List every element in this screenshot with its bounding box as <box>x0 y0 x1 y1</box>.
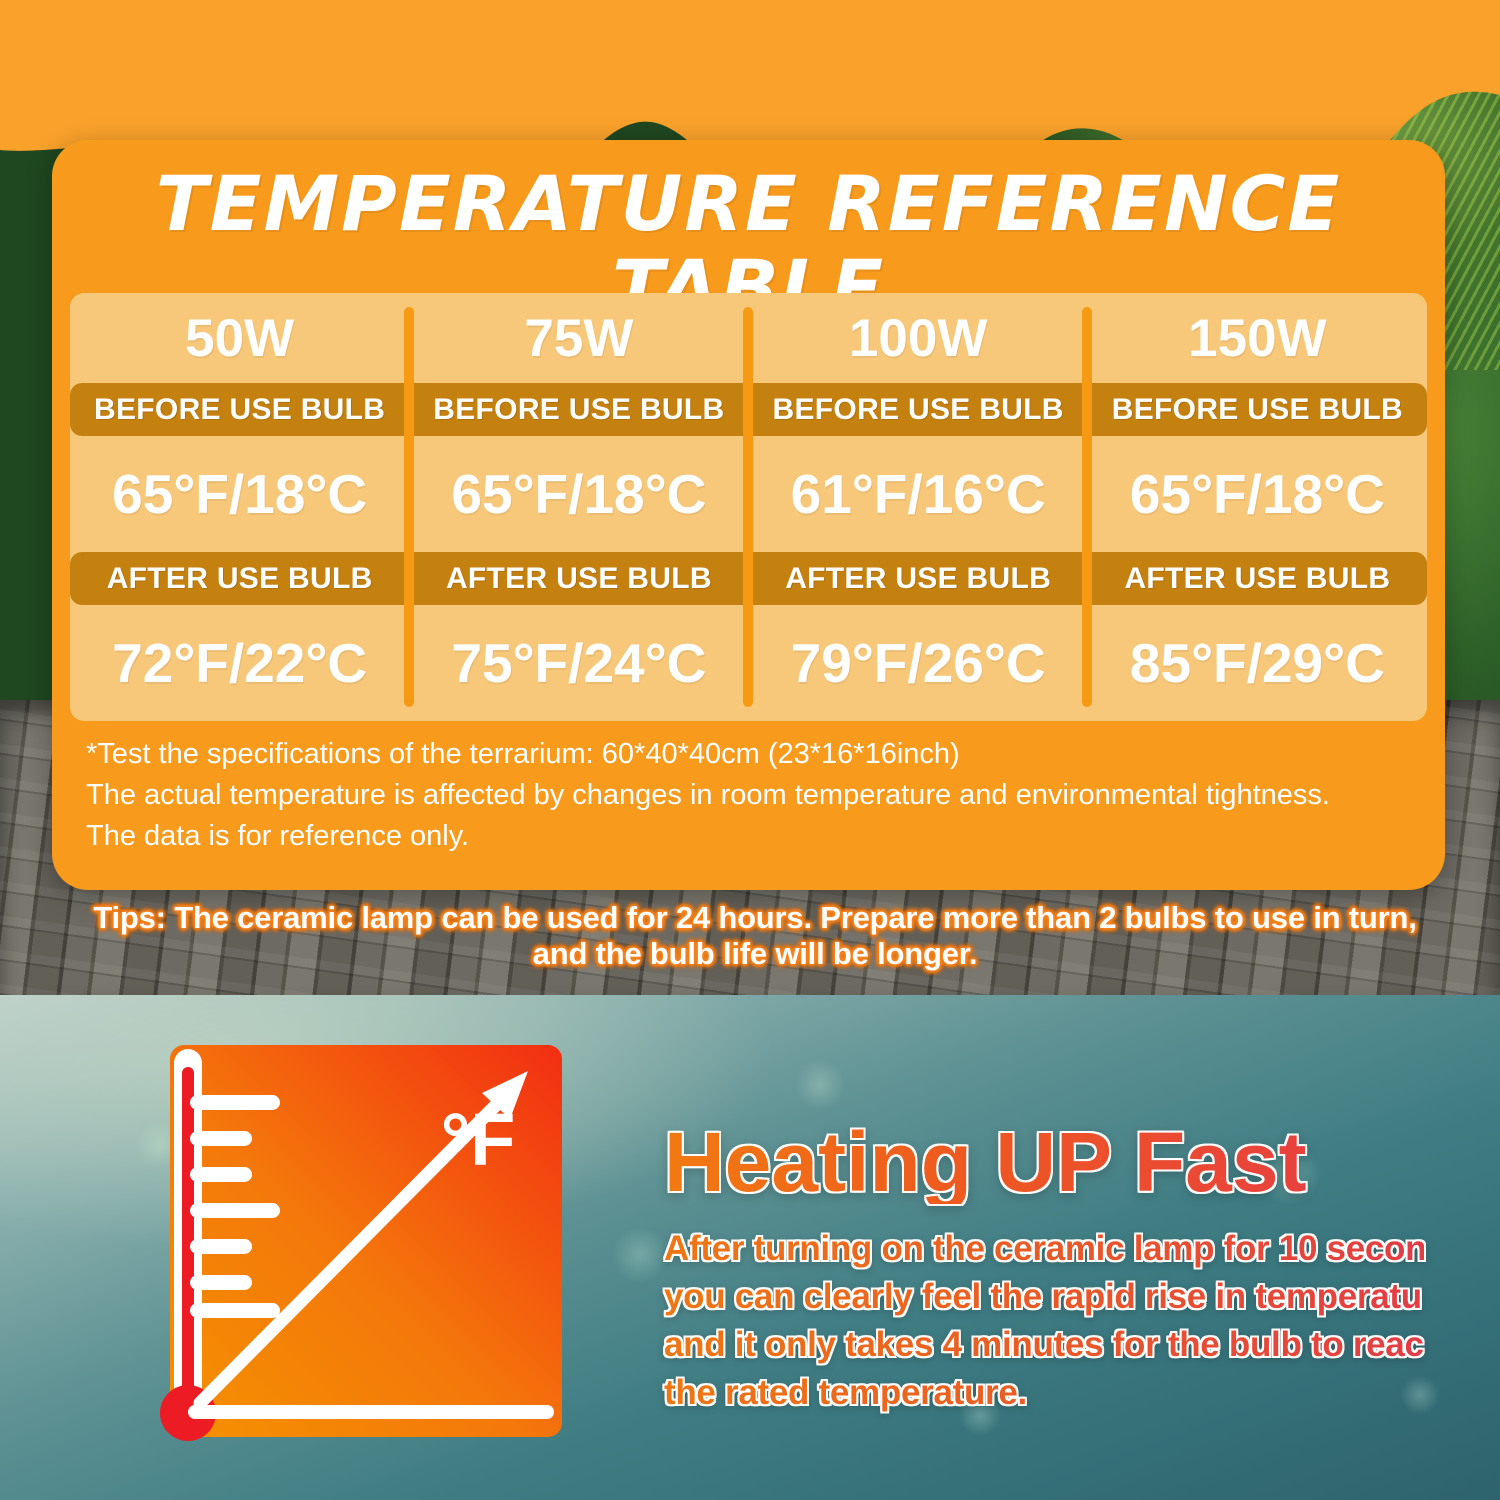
after-use-value: 85°F/29°C <box>1088 605 1427 721</box>
bottom-section: °F Heating UP Fast After turning on the … <box>0 995 1500 1500</box>
before-use-label: BEFORE USE BULB <box>409 383 748 436</box>
wattage-header: 50W <box>70 293 409 383</box>
wattage-header: 75W <box>409 293 748 383</box>
heating-description: After turning on the ceramic lamp for 10… <box>664 1225 1424 1417</box>
before-use-label: BEFORE USE BULB <box>749 383 1088 436</box>
after-use-value: 75°F/24°C <box>409 605 748 721</box>
degree-fahrenheit-label: °F <box>441 1098 516 1181</box>
after-use-label: AFTER USE BULB <box>749 552 1088 605</box>
after-use-value: 72°F/22°C <box>70 605 409 721</box>
description-line: After turning on the ceramic lamp for 10… <box>664 1225 1424 1273</box>
description-line: and it only takes 4 minutes for the bulb… <box>664 1321 1424 1369</box>
footnote-line: The actual temperature is affected by ch… <box>86 775 1416 816</box>
table-column-50w: 50W BEFORE USE BULB 65°F/18°C AFTER USE … <box>70 293 409 721</box>
after-use-label: AFTER USE BULB <box>1088 552 1427 605</box>
footnotes: *Test the specifications of the terrariu… <box>86 734 1416 857</box>
table-column-75w: 75W BEFORE USE BULB 65°F/18°C AFTER USE … <box>409 293 748 721</box>
product-infographic: TEMPERATURE REFERENCE TABLE 50W BEFORE U… <box>0 0 1500 1500</box>
footnote-line: *Test the specifications of the terrariu… <box>86 734 1416 775</box>
after-use-label: AFTER USE BULB <box>409 552 748 605</box>
before-use-value: 65°F/18°C <box>70 436 409 552</box>
tips-line: and the bulb life will be longer. <box>60 936 1450 972</box>
before-use-label: BEFORE USE BULB <box>70 383 409 436</box>
heating-heading: Heating UP Fast <box>664 1120 1307 1204</box>
wattage-header: 100W <box>749 293 1088 383</box>
top-section: TEMPERATURE REFERENCE TABLE 50W BEFORE U… <box>0 0 1500 995</box>
wattage-header: 150W <box>1088 293 1427 383</box>
before-use-value: 65°F/18°C <box>1088 436 1427 552</box>
tips-text: Tips: The ceramic lamp can be used for 2… <box>60 900 1450 972</box>
heating-chart-icon: °F <box>160 1035 572 1447</box>
after-use-label: AFTER USE BULB <box>70 552 409 605</box>
before-use-value: 65°F/18°C <box>409 436 748 552</box>
footnote-line: The data is for reference only. <box>86 816 1416 857</box>
before-use-value: 61°F/16°C <box>749 436 1088 552</box>
description-line: you can clearly feel the rapid rise in t… <box>664 1273 1424 1321</box>
description-line: the rated temperature. <box>664 1369 1424 1417</box>
tips-line: Tips: The ceramic lamp can be used for 2… <box>60 900 1450 936</box>
temperature-card: TEMPERATURE REFERENCE TABLE 50W BEFORE U… <box>52 140 1445 890</box>
before-use-label: BEFORE USE BULB <box>1088 383 1427 436</box>
after-use-value: 79°F/26°C <box>749 605 1088 721</box>
table-column-150w: 150W BEFORE USE BULB 65°F/18°C AFTER USE… <box>1088 293 1427 721</box>
table-column-100w: 100W BEFORE USE BULB 61°F/16°C AFTER USE… <box>749 293 1088 721</box>
temperature-table: 50W BEFORE USE BULB 65°F/18°C AFTER USE … <box>70 293 1427 721</box>
